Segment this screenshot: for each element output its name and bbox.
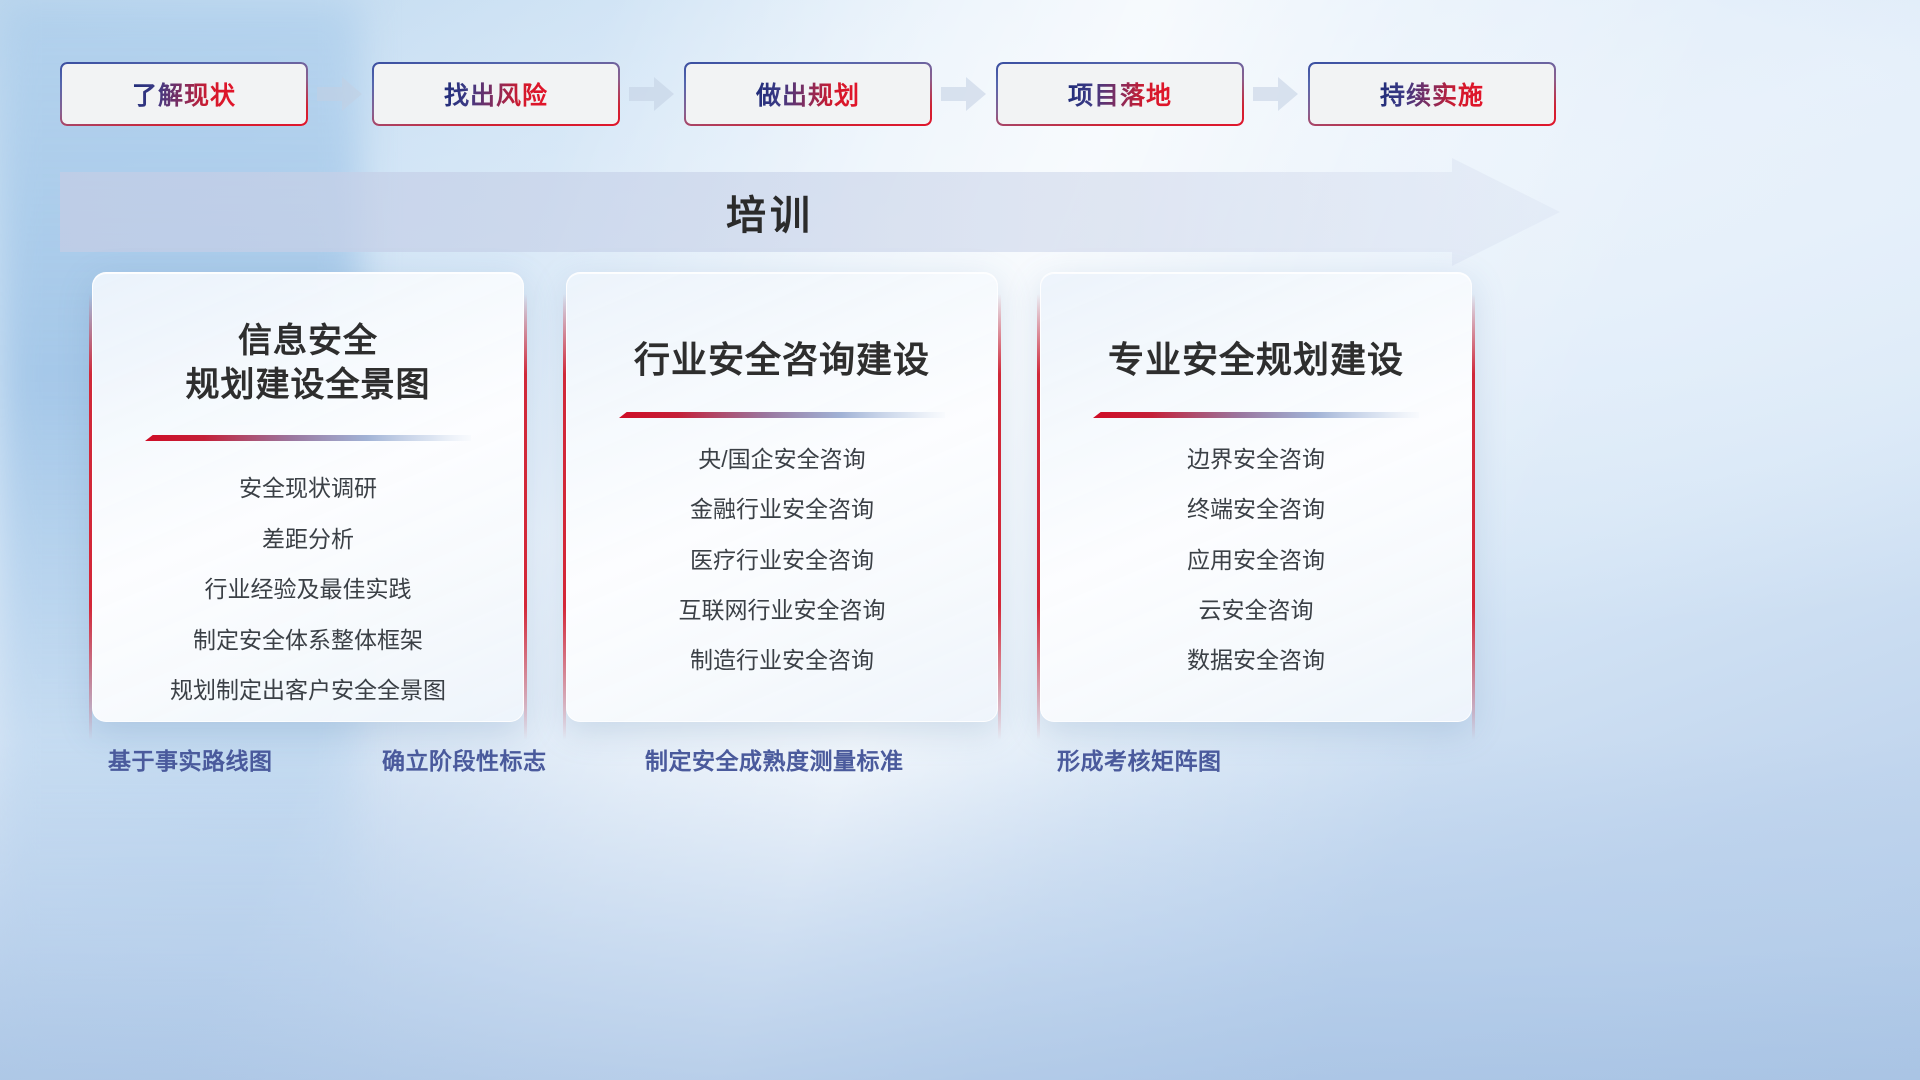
card-accent-bar-right <box>998 294 1001 740</box>
card-list-item[interactable]: 安全现状调研 <box>239 468 377 509</box>
process-step-2[interactable]: 找出风险 <box>372 62 620 126</box>
footnote-label-4: 形成考核矩阵图 <box>1057 742 1222 776</box>
card-accent-bar-right <box>524 294 527 740</box>
card-list-item[interactable]: 央/国企安全咨询 <box>698 439 865 480</box>
card-body: 信息安全 规划建设全景图安全现状调研差距分析行业经验及最佳实践制定安全体系整体框… <box>92 272 524 722</box>
card-list-item[interactable]: 数据安全咨询 <box>1187 640 1325 681</box>
card-item-list: 安全现状调研差距分析行业经验及最佳实践制定安全体系整体框架规划制定出客户安全全景… <box>93 468 523 711</box>
process-step-flow: 了解现状找出风险做出规划项目落地持续实施 <box>60 62 1860 126</box>
process-step-label: 项目落地 <box>1068 76 1172 112</box>
gradient-rule-icon <box>145 431 472 440</box>
card-list-item[interactable]: 规划制定出客户安全全景图 <box>170 670 446 711</box>
card-list-item[interactable]: 制造行业安全咨询 <box>690 640 874 681</box>
card-list-item[interactable]: 终端安全咨询 <box>1187 489 1325 530</box>
process-step-label: 找出风险 <box>444 76 548 112</box>
footnote-label-2: 确立阶段性标志 <box>382 742 547 776</box>
capability-card-3[interactable]: 专业安全规划建设边界安全咨询终端安全咨询应用安全咨询云安全咨询数据安全咨询 <box>1040 272 1472 722</box>
footnote-label-1: 基于事实路线图 <box>108 742 273 776</box>
gradient-rule-icon <box>1093 408 1420 417</box>
chevron-right-block-arrow-icon <box>938 74 990 114</box>
training-banner: 培训 <box>60 158 1560 266</box>
process-step-5[interactable]: 持续实施 <box>1308 62 1556 126</box>
card-list-item[interactable]: 行业经验及最佳实践 <box>205 569 412 610</box>
card-list-item[interactable]: 医疗行业安全咨询 <box>690 540 874 581</box>
chevron-right-block-arrow-icon <box>314 74 366 114</box>
card-title: 信息安全 规划建设全景图 <box>186 319 431 407</box>
footnote-labels: 基于事实路线图确立阶段性标志制定安全成熟度测量标准形成考核矩阵图 <box>0 742 1920 792</box>
card-accent-bar-right <box>1472 294 1475 740</box>
process-step-4[interactable]: 项目落地 <box>996 62 1244 126</box>
capability-cards: 信息安全 规划建设全景图安全现状调研差距分析行业经验及最佳实践制定安全体系整体框… <box>0 272 1920 722</box>
banner-title: 培训 <box>60 158 1480 266</box>
chevron-right-block-arrow-icon <box>626 74 678 114</box>
card-list-item[interactable]: 金融行业安全咨询 <box>690 489 874 530</box>
card-title: 专业安全规划建设 <box>1108 319 1404 384</box>
card-title: 行业安全咨询建设 <box>634 319 930 384</box>
footnote-label-3: 制定安全成熟度测量标准 <box>645 742 904 776</box>
card-body: 专业安全规划建设边界安全咨询终端安全咨询应用安全咨询云安全咨询数据安全咨询 <box>1040 272 1472 722</box>
card-list-item[interactable]: 互联网行业安全咨询 <box>679 590 886 631</box>
capability-card-1[interactable]: 信息安全 规划建设全景图安全现状调研差距分析行业经验及最佳实践制定安全体系整体框… <box>92 272 524 722</box>
process-step-label: 了解现状 <box>132 76 236 112</box>
card-list-item[interactable]: 制定安全体系整体框架 <box>193 620 423 661</box>
chevron-right-block-arrow-icon <box>1250 74 1302 114</box>
slide-stage: 了解现状找出风险做出规划项目落地持续实施 培训 信息安全 规划建设全景图安全现状… <box>0 0 1920 1080</box>
card-list-item[interactable]: 云安全咨询 <box>1199 590 1314 631</box>
card-item-list: 央/国企安全咨询金融行业安全咨询医疗行业安全咨询互联网行业安全咨询制造行业安全咨… <box>567 439 997 682</box>
card-body: 行业安全咨询建设央/国企安全咨询金融行业安全咨询医疗行业安全咨询互联网行业安全咨… <box>566 272 998 722</box>
gradient-rule-icon <box>619 408 946 417</box>
process-step-1[interactable]: 了解现状 <box>60 62 308 126</box>
card-list-item[interactable]: 差距分析 <box>262 519 354 560</box>
process-step-label: 做出规划 <box>756 76 860 112</box>
card-item-list: 边界安全咨询终端安全咨询应用安全咨询云安全咨询数据安全咨询 <box>1041 439 1471 682</box>
card-list-item[interactable]: 边界安全咨询 <box>1187 439 1325 480</box>
process-step-label: 持续实施 <box>1380 76 1484 112</box>
capability-card-2[interactable]: 行业安全咨询建设央/国企安全咨询金融行业安全咨询医疗行业安全咨询互联网行业安全咨… <box>566 272 998 722</box>
card-list-item[interactable]: 应用安全咨询 <box>1187 540 1325 581</box>
process-step-3[interactable]: 做出规划 <box>684 62 932 126</box>
